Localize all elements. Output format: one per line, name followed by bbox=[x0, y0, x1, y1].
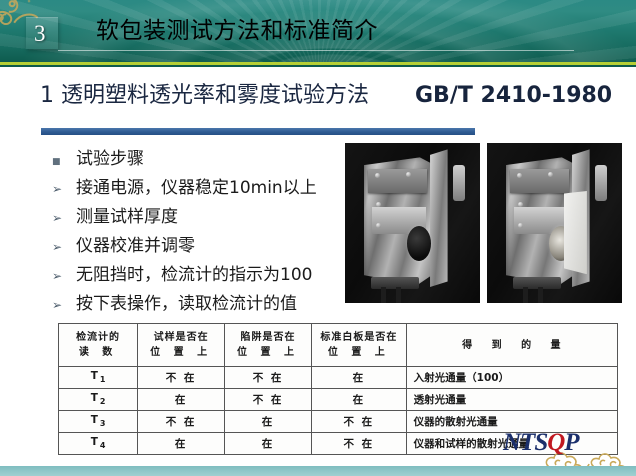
cell-sample: 不 在 bbox=[138, 367, 225, 389]
instrument-photo-right bbox=[487, 143, 622, 303]
logo-text-suffix: P bbox=[564, 429, 578, 456]
reading-symbol: T bbox=[91, 436, 100, 448]
column-header-whiteboard: 标准白板是否在 位 置 上 bbox=[311, 324, 406, 367]
table-head: 检流计的 读 数 试样是否在 位 置 上 陷阱是否在 位 置 上 标准白板是否在… bbox=[59, 324, 618, 367]
header-line-2: 读 数 bbox=[59, 345, 137, 360]
header-title-underline bbox=[58, 50, 574, 51]
reading-subscript: 2 bbox=[100, 398, 106, 407]
cell-trap: 不 在 bbox=[225, 389, 312, 411]
cell-result: 透射光通量 bbox=[406, 389, 617, 411]
column-header-result: 得 到 的 量 bbox=[406, 324, 617, 367]
column-header-reading: 检流计的 读 数 bbox=[59, 324, 138, 367]
list-item-label: 仪器校准并调零 bbox=[76, 233, 195, 259]
cell-sample: 在 bbox=[138, 389, 225, 411]
cell-result: 入射光通量（100） bbox=[406, 367, 617, 389]
photo-leg bbox=[538, 287, 543, 303]
header-line-2: 得 到 的 量 bbox=[414, 338, 617, 353]
table-header-row: 检流计的 读 数 试样是否在 位 置 上 陷阱是否在 位 置 上 标准白板是否在… bbox=[59, 324, 618, 367]
header-line-1: 试样是否在 bbox=[154, 332, 209, 343]
cell-reading: T2 bbox=[59, 389, 138, 411]
reading-symbol: T bbox=[91, 392, 100, 404]
footer-strip bbox=[0, 466, 636, 476]
photo-base-bracket bbox=[371, 277, 420, 288]
cell-whiteboard: 不 在 bbox=[311, 433, 406, 455]
slide-header-banner: 3 软包装测试方法和标准简介 bbox=[0, 0, 636, 62]
list-item-label: 测量试样厚度 bbox=[76, 204, 178, 230]
list-item-label: 按下表操作，读取检流计的值 bbox=[76, 291, 297, 317]
slide-number: 3 bbox=[34, 22, 46, 45]
arrow-bullet-icon: ➢ bbox=[52, 292, 76, 318]
cell-trap: 不 在 bbox=[225, 367, 312, 389]
header-accent-line-dark bbox=[0, 65, 636, 67]
slide: 3 软包装测试方法和标准简介 1 透明塑料透光率和雾度试验方法 GB/T 241… bbox=[0, 0, 636, 476]
photo-leg bbox=[396, 287, 401, 303]
logo-text-accent: Q bbox=[547, 429, 564, 456]
list-item: ➢ 接通电源，仪器稳定10min以上 bbox=[52, 175, 352, 201]
company-logo: NTSQP bbox=[503, 430, 579, 455]
logo-text-primary: NTS bbox=[503, 429, 547, 456]
cell-sample: 在 bbox=[138, 433, 225, 455]
reading-subscript: 1 bbox=[100, 376, 106, 385]
cell-reading: T3 bbox=[59, 411, 138, 433]
list-item: ➢ 仪器校准并调零 bbox=[52, 233, 352, 259]
header-line-2: 位 置 上 bbox=[312, 345, 406, 360]
photo-metal-tab bbox=[453, 165, 465, 200]
cell-reading: T4 bbox=[59, 433, 138, 455]
arrow-bullet-icon: ➢ bbox=[52, 176, 76, 202]
reading-symbol: T bbox=[91, 370, 100, 382]
cell-trap: 在 bbox=[225, 411, 312, 433]
table-row: T1 不 在 不 在 在 入射光通量（100） bbox=[59, 367, 618, 389]
cell-whiteboard: 在 bbox=[311, 367, 406, 389]
photo-leg bbox=[523, 287, 528, 303]
photo-metal-ridge bbox=[430, 149, 448, 287]
header-line-2: 位 置 上 bbox=[138, 345, 224, 360]
header-line-2: 位 置 上 bbox=[225, 345, 311, 360]
list-item-label: 试验步骤 bbox=[76, 146, 144, 172]
square-bullet-icon: ■ bbox=[52, 149, 76, 175]
photo-base-bracket bbox=[513, 277, 562, 288]
list-item: ➢ 无阻挡时，检流计的指示为100 bbox=[52, 262, 352, 288]
arrow-bullet-icon: ➢ bbox=[52, 263, 76, 289]
header-line-1: 陷阱是否在 bbox=[241, 332, 296, 343]
cell-whiteboard: 不 在 bbox=[311, 411, 406, 433]
photo-metal-plate-upper bbox=[368, 169, 427, 193]
header-line-1: 标准白板是否在 bbox=[320, 332, 397, 343]
section-divider-rule bbox=[41, 128, 475, 135]
photo-metal-tab bbox=[595, 165, 607, 200]
cell-sample: 不 在 bbox=[138, 411, 225, 433]
photo-screw bbox=[548, 172, 553, 177]
cell-whiteboard: 在 bbox=[311, 389, 406, 411]
reading-symbol: T bbox=[91, 414, 100, 426]
table-row: T2 在 不 在 在 透射光通量 bbox=[59, 389, 618, 411]
cell-reading: T1 bbox=[59, 367, 138, 389]
procedure-list: ■ 试验步骤 ➢ 接通电源，仪器稳定10min以上 ➢ 测量试样厚度 ➢ 仪器校… bbox=[52, 146, 352, 320]
header-line-1: 检流计的 bbox=[76, 332, 120, 343]
photo-sample-sheet bbox=[564, 191, 587, 274]
section-title: 1 透明塑料透光率和雾度试验方法 bbox=[40, 81, 369, 111]
header-title: 软包装测试方法和标准简介 bbox=[96, 16, 378, 46]
arrow-bullet-icon: ➢ bbox=[52, 205, 76, 231]
list-item: ➢ 按下表操作，读取检流计的值 bbox=[52, 291, 352, 317]
photo-screw bbox=[406, 172, 411, 177]
list-item: ➢ 测量试样厚度 bbox=[52, 204, 352, 230]
instrument-photo-left bbox=[345, 143, 480, 303]
list-item-label: 无阻挡时，检流计的指示为100 bbox=[76, 262, 312, 288]
column-header-sample: 试样是否在 位 置 上 bbox=[138, 324, 225, 367]
cell-trap: 在 bbox=[225, 433, 312, 455]
arrow-bullet-icon: ➢ bbox=[52, 234, 76, 260]
reading-subscript: 3 bbox=[100, 420, 106, 429]
reading-subscript: 4 bbox=[100, 442, 106, 451]
photo-leg bbox=[381, 287, 386, 303]
list-item: ■ 试验步骤 bbox=[52, 146, 352, 172]
column-header-trap: 陷阱是否在 位 置 上 bbox=[225, 324, 312, 367]
list-item-label: 接通电源，仪器稳定10min以上 bbox=[76, 175, 317, 201]
standard-code: GB/T 2410-1980 bbox=[415, 81, 612, 111]
photo-metal-plate-upper bbox=[510, 169, 569, 193]
